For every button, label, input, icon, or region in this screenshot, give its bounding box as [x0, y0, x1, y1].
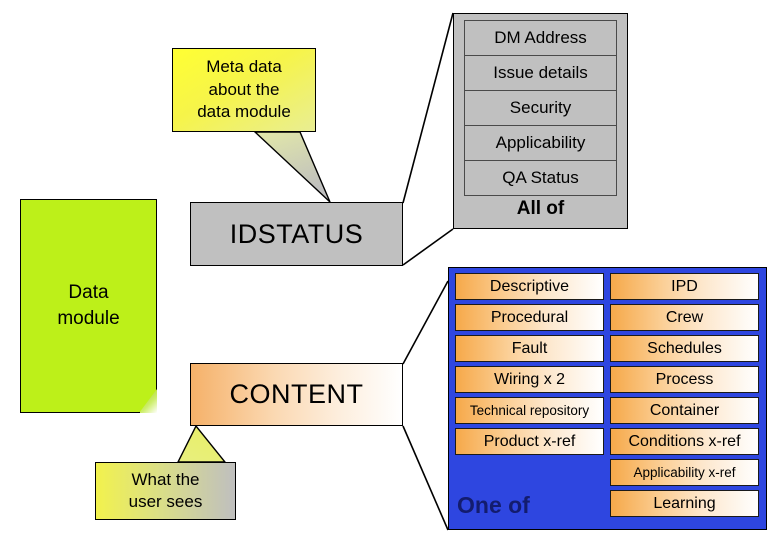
- callout-meta-data[interactable]: Meta data about the data module: [172, 48, 316, 132]
- one-of-item[interactable]: Fault: [455, 335, 604, 362]
- callout-user-tail: [178, 426, 225, 462]
- all-of-item[interactable]: QA Status: [464, 160, 617, 196]
- one-of-item[interactable]: Wiring x 2: [455, 366, 604, 393]
- connector-content-oneof-bottom: [403, 426, 448, 530]
- node-content[interactable]: CONTENT: [190, 363, 403, 426]
- one-of-label: One of: [457, 492, 530, 519]
- data-module-label-line2: module: [57, 306, 119, 332]
- all-of-item[interactable]: DM Address: [464, 20, 617, 56]
- connector-idstatus-allof-top: [403, 13, 453, 203]
- data-module-shape[interactable]: Data module: [20, 199, 157, 413]
- callout-meta-line1: Meta data: [197, 56, 291, 78]
- callout-user-line2: user sees: [129, 491, 203, 513]
- data-module-label-line1: Data: [57, 280, 119, 306]
- one-of-item[interactable]: Procedural: [455, 304, 604, 331]
- one-of-item[interactable]: Descriptive: [455, 273, 604, 300]
- one-of-item[interactable]: Conditions x-ref: [610, 428, 759, 455]
- callout-meta-line3: data module: [197, 101, 291, 123]
- connector-content-oneof-top: [403, 281, 448, 364]
- node-content-label: CONTENT: [230, 379, 364, 410]
- one-of-item[interactable]: Product x-ref: [455, 428, 604, 455]
- all-of-item[interactable]: Security: [464, 90, 617, 126]
- one-of-panel: Descriptive Procedural Fault Wiring x 2 …: [448, 267, 767, 530]
- all-of-item[interactable]: Issue details: [464, 55, 617, 91]
- one-of-item[interactable]: Crew: [610, 304, 759, 331]
- one-of-item[interactable]: IPD: [610, 273, 759, 300]
- one-of-right-column: IPD Crew Schedules Process Container Con…: [610, 273, 759, 523]
- one-of-item[interactable]: Process: [610, 366, 759, 393]
- callout-meta-line2: about the: [197, 79, 291, 101]
- diagram-canvas: Data module IDSTATUS CONTENT Meta data a…: [0, 0, 781, 537]
- one-of-item[interactable]: Schedules: [610, 335, 759, 362]
- node-idstatus-label: IDSTATUS: [230, 219, 364, 250]
- node-idstatus[interactable]: IDSTATUS: [190, 202, 403, 266]
- one-of-item[interactable]: Container: [610, 397, 759, 424]
- all-of-panel: DM Address Issue details Security Applic…: [453, 13, 628, 229]
- one-of-item[interactable]: Learning: [610, 490, 759, 517]
- callout-user-sees[interactable]: What the user sees: [95, 462, 236, 520]
- one-of-item[interactable]: Technical repository: [455, 397, 604, 424]
- callout-meta-bubble: Meta data about the data module: [172, 48, 316, 132]
- all-of-label: All of: [464, 198, 617, 220]
- one-of-item[interactable]: Applicability x-ref: [610, 459, 759, 486]
- one-of-left-column: Descriptive Procedural Fault Wiring x 2 …: [455, 273, 604, 523]
- callout-user-line1: What the: [129, 469, 203, 491]
- callout-user-bubble: What the user sees: [95, 462, 236, 520]
- callout-meta-tail: [255, 132, 330, 202]
- connector-idstatus-allof-bottom: [403, 229, 453, 265]
- all-of-item[interactable]: Applicability: [464, 125, 617, 161]
- data-module-label: Data module: [20, 199, 157, 413]
